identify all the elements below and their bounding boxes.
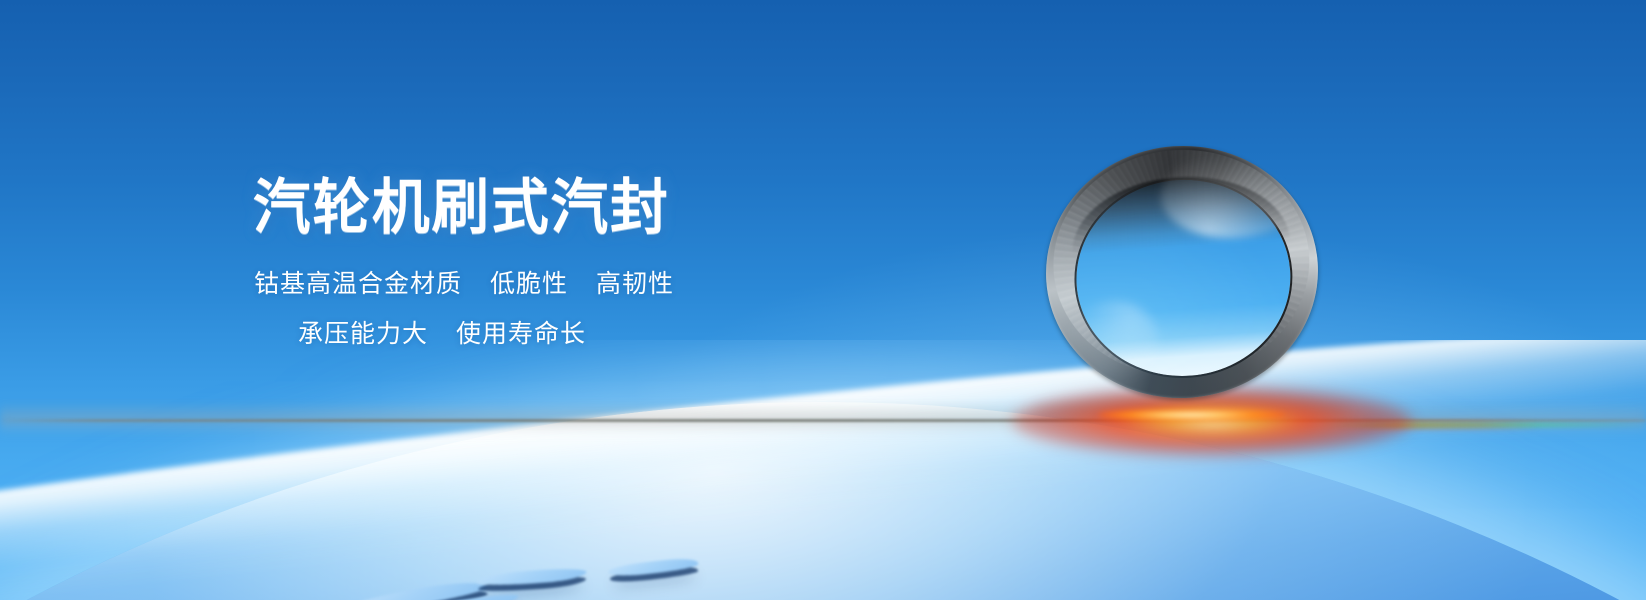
landmass xyxy=(338,578,489,600)
hero-banner: 汽轮机刷式汽封 钴基高温合金材质低脆性高韧性 承压能力大使用寿命长 xyxy=(0,0,1646,600)
landmass xyxy=(608,557,699,579)
earth-globe xyxy=(0,340,1646,600)
subtitle-feature-low-brittleness: 低脆性 xyxy=(490,270,568,298)
subtitle-line-1: 钴基高温合金材质低脆性高韧性 xyxy=(254,272,674,297)
atmosphere-rim xyxy=(0,340,1646,600)
subtitle-feature-material: 钴基高温合金材质 xyxy=(254,270,462,298)
globe-sphere xyxy=(0,340,1646,600)
metal-sealing-ring-image xyxy=(1038,137,1327,407)
hot-glow-core xyxy=(1098,409,1286,421)
landmass xyxy=(476,567,587,588)
page-title: 汽轮机刷式汽封 xyxy=(253,178,670,238)
subtitle-feature-high-toughness: 高韧性 xyxy=(596,270,674,298)
